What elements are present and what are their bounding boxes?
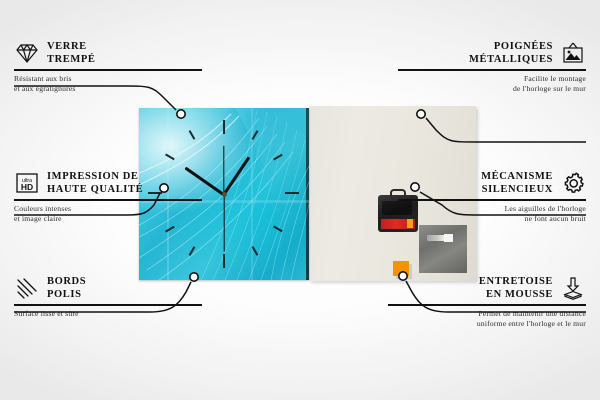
gear-icon (560, 171, 586, 195)
divider (398, 199, 586, 201)
feature-verre-trempe: VERRE TREMPÉ Résistant aux bris et aux é… (14, 40, 202, 94)
feature-poignees-metalliques: POIGNÉES MÉTALLIQUES Facilite le montage… (398, 40, 586, 94)
divider (398, 69, 586, 71)
second-hand-tail (223, 146, 224, 194)
hour-hand (223, 156, 251, 195)
feature-title: BORDS POLIS (47, 275, 86, 301)
divider (14, 69, 202, 71)
feature-title: MÉCANISME SILENCIEUX (481, 170, 553, 196)
feature-subtitle: Les aiguilles de l'horloge ne font aucun… (398, 204, 586, 224)
feature-subtitle: Couleurs intenses et image claire (14, 204, 202, 224)
second-hand (223, 194, 224, 252)
picture-frame-hanger-icon (560, 41, 586, 65)
svg-text:HD: HD (21, 182, 33, 192)
divider (388, 304, 586, 306)
diamond-icon (14, 41, 40, 65)
polished-edges-icon (14, 276, 40, 300)
feature-mecanisme-silencieux: MÉCANISME SILENCIEUX Les aiguilles de l'… (398, 170, 586, 224)
feature-subtitle: Permet de maintenir une distance uniform… (388, 309, 586, 329)
feature-title: ENTRETOISE EN MOUSSE (479, 275, 553, 301)
feature-title: VERRE TREMPÉ (47, 40, 96, 66)
foam-spacer (393, 261, 409, 276)
feature-subtitle: Résistant aux bris et aux égratignures (14, 74, 202, 94)
feature-entretoise-en-mousse: ENTRETOISE EN MOUSSE Permet de maintenir… (388, 275, 586, 329)
metal-hanger (419, 225, 467, 273)
feature-bords-polis: BORDS POLIS Surface lisse et sûre (14, 275, 202, 319)
feature-subtitle: Surface lisse et sûre (14, 309, 202, 319)
infographic-stage: VERRE TREMPÉ Résistant aux bris et aux é… (0, 0, 600, 400)
clock-hub (222, 192, 227, 197)
divider (14, 304, 202, 306)
ultra-hd-icon: ultra HD (14, 171, 40, 195)
feature-title: IMPRESSION DE HAUTE QUALITÉ (47, 170, 143, 196)
divider (14, 199, 202, 201)
hanger-slot (427, 235, 453, 241)
feature-impression-haute-qualite: ultra HD IMPRESSION DE HAUTE QUALITÉ Cou… (14, 170, 202, 224)
feature-title: POIGNÉES MÉTALLIQUES (469, 40, 553, 66)
feature-subtitle: Facilite le montage de l'horloge sur le … (398, 74, 586, 94)
foam-spacer-arrow-icon (560, 276, 586, 300)
